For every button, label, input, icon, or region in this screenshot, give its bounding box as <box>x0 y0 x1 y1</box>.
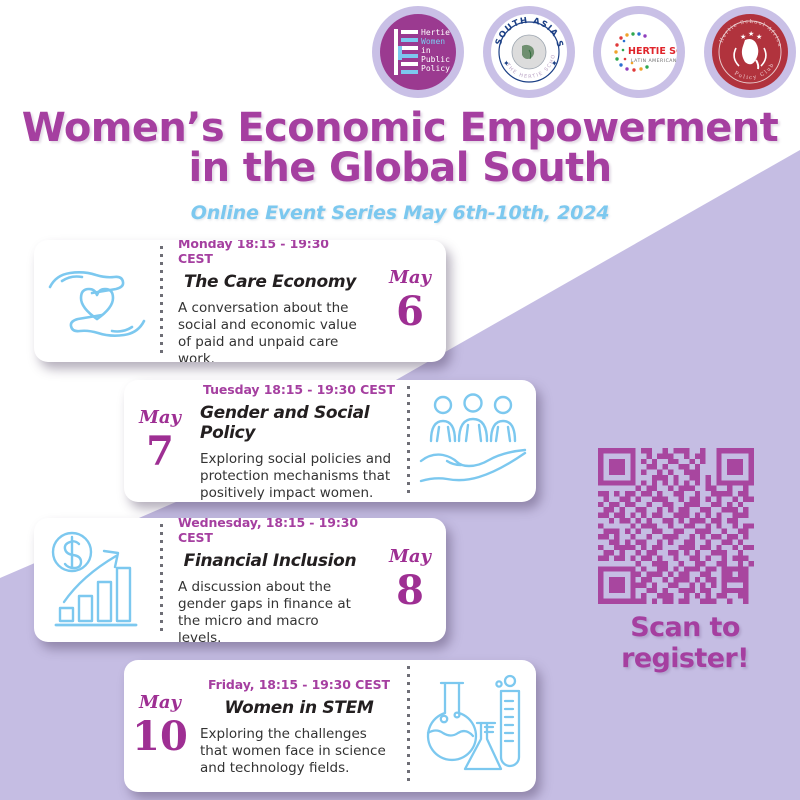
svg-text:HERTIE SCHOOL: HERTIE SCHOOL <box>628 46 677 57</box>
event-time: Monday 18:15 - 19:30 CEST <box>178 240 362 266</box>
svg-text:✦: ✦ <box>551 59 558 68</box>
svg-text:★: ★ <box>740 33 746 41</box>
event-date: May 7 <box>124 380 196 502</box>
hertie-school-latin-american-club-logo: HERTIE SCHOOL LATIN AMERICAN CLUB <box>593 6 685 98</box>
event-date: May 10 <box>124 660 196 792</box>
event-description: Exploring the challenges that women face… <box>200 726 398 777</box>
svg-text:Public: Public <box>421 55 450 64</box>
event-description: A discussion about the gender gaps in fi… <box>178 579 362 642</box>
event-day: 6 <box>396 290 424 334</box>
svg-text:★: ★ <box>756 33 762 41</box>
qr-code-svg <box>598 448 754 604</box>
event-details: Wednesday, 18:15 - 19:30 CEST Financial … <box>160 518 374 642</box>
event-date: May 6 <box>374 240 446 362</box>
event-title: The Care Economy <box>184 272 356 292</box>
south-asia-society-logo: SOUTH ASIA SOCIETY THE HERTIE SCHOOL ✦ ✦ <box>483 6 575 98</box>
svg-text:★: ★ <box>748 30 754 38</box>
svg-text:LATIN AMERICAN CLUB: LATIN AMERICAN CLUB <box>631 58 677 64</box>
event-time: Tuesday 18:15 - 19:30 CEST <box>203 382 395 397</box>
svg-text:Hertie: Hertie <box>421 28 450 37</box>
event-day: 8 <box>396 569 424 613</box>
event-description: Exploring social policies and protection… <box>200 451 398 502</box>
event-time: Wednesday, 18:15 - 19:30 CEST <box>178 518 362 545</box>
event-details: Tuesday 18:15 - 19:30 CEST Gender and So… <box>196 380 410 502</box>
event-day: 7 <box>146 430 174 474</box>
event-title: Financial Inclusion <box>184 551 357 571</box>
partner-logo-row: Hertie Women in Public Policy <box>372 6 796 98</box>
dollar-growth-chart-icon <box>34 518 160 642</box>
svg-text:Women: Women <box>421 37 445 46</box>
event-details: Monday 18:15 - 19:30 CEST The Care Econo… <box>160 240 374 362</box>
lab-flasks-icon <box>410 660 536 792</box>
event-title: Gender and Social Policy <box>200 403 398 443</box>
svg-text:in: in <box>421 46 431 55</box>
event-card-women-in-stem[interactable]: May 10 Friday, 18:15 - 19:30 CEST Women … <box>124 660 536 792</box>
hertie-school-africa-policy-club-logo: ★ ★ ★ Hertie School Africa Policy Club <box>704 6 796 98</box>
people-in-hand-icon <box>410 380 536 502</box>
event-month: May <box>389 268 431 288</box>
poster-title-block: Women’s Economic Empowerment in the Glob… <box>0 108 800 224</box>
event-card-gender-and-social-policy[interactable]: May 7 Tuesday 18:15 - 19:30 CEST Gender … <box>124 380 536 502</box>
hands-heart-icon <box>34 240 160 362</box>
event-description: A conversation about the social and econ… <box>178 300 362 362</box>
page-title-line-1: Women’s Economic Empowerment <box>0 108 800 148</box>
scan-to-register-label: Scan to register! <box>565 612 800 674</box>
event-time: Friday, 18:15 - 19:30 CEST <box>208 677 390 692</box>
event-card-financial-inclusion[interactable]: Wednesday, 18:15 - 19:30 CEST Financial … <box>34 518 446 642</box>
registration-qr-code[interactable] <box>598 448 754 609</box>
event-month: May <box>389 547 431 567</box>
page-subtitle: Online Event Series May 6th-10th, 2024 <box>0 202 800 224</box>
svg-text:Policy: Policy <box>421 64 450 73</box>
event-day: 10 <box>132 715 188 759</box>
event-date: May 8 <box>374 518 446 642</box>
event-month: May <box>139 693 181 713</box>
event-month: May <box>139 408 181 428</box>
page-title-line-2: in the Global South <box>0 148 800 188</box>
event-title: Women in STEM <box>224 698 373 718</box>
event-details: Friday, 18:15 - 19:30 CEST Women in STEM… <box>196 660 410 792</box>
svg-text:✦: ✦ <box>503 59 510 68</box>
event-card-care-economy[interactable]: Monday 18:15 - 19:30 CEST The Care Econo… <box>34 240 446 362</box>
hertie-women-in-public-policy-logo: Hertie Women in Public Policy <box>372 6 464 98</box>
